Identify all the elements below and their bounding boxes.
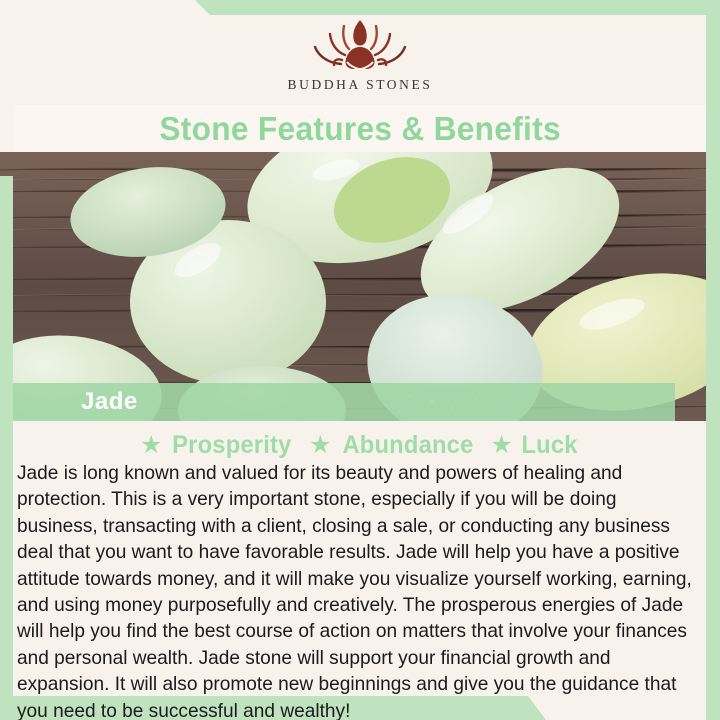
brand-logo: BUDDHA STONES xyxy=(0,14,720,106)
star-icon: ★ xyxy=(490,433,512,458)
stone-info-card: BUDDHA STONES Stone Features & Benefits xyxy=(0,0,720,720)
stone-photo-image xyxy=(0,152,720,421)
benefit-item: ★ Abundance xyxy=(309,431,476,460)
brand-name: BUDDHA STONES xyxy=(288,77,433,93)
stone-description: Jade is long known and valued for its be… xyxy=(17,460,693,720)
star-icon: ★ xyxy=(140,433,162,458)
page-title: Stone Features & Benefits xyxy=(159,110,561,148)
frame-accent-left xyxy=(0,176,13,720)
benefit-item: ★ Prosperity xyxy=(140,431,295,460)
star-icon: ★ xyxy=(309,433,331,458)
stone-photo xyxy=(0,152,720,421)
title-banner: Stone Features & Benefits xyxy=(14,105,706,152)
benefit-item: ★ Luck xyxy=(490,431,579,460)
benefit-label: Prosperity xyxy=(173,431,292,460)
stone-name-badge: Jade xyxy=(13,383,675,421)
stone-name: Jade xyxy=(81,388,138,416)
frame-accent-top xyxy=(0,0,720,15)
lotus-meditation-icon xyxy=(301,14,419,76)
benefit-label: Abundance xyxy=(342,431,473,460)
frame-accent-right xyxy=(706,0,720,720)
benefits-list: ★ Prosperity ★ Abundance ★ Luck xyxy=(13,428,706,462)
benefit-label: Luck xyxy=(521,431,577,460)
